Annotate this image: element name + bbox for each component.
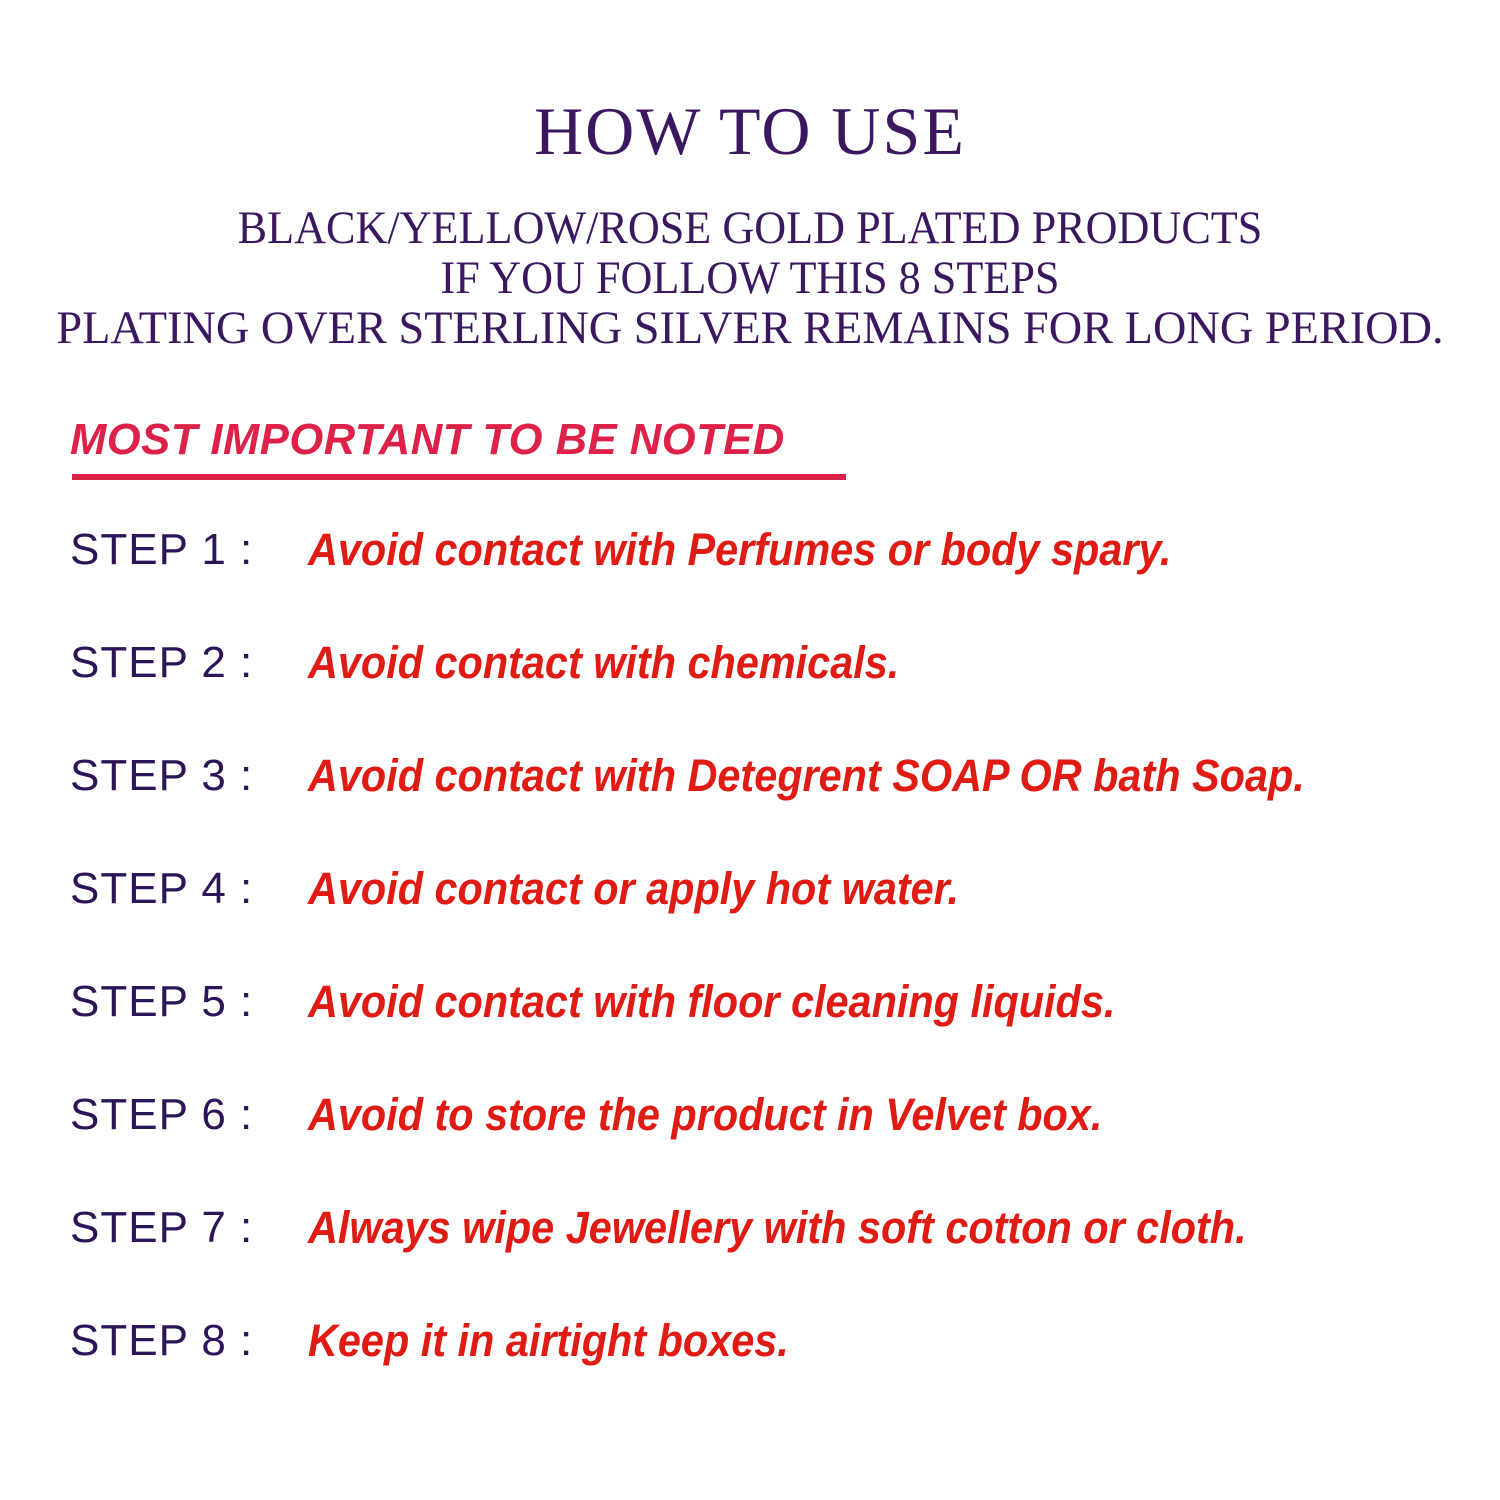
subtitle-block: BLACK/YELLOW/ROSE GOLD PLATED PRODUCTS I… bbox=[0, 203, 1500, 353]
step-label-3: STEP 3 : bbox=[70, 750, 253, 802]
title-block: HOW TO USE bbox=[0, 96, 1500, 166]
step-label-5: STEP 5 : bbox=[70, 976, 253, 1028]
step-description-2: Avoid contact with chemicals. bbox=[308, 637, 899, 689]
step-description-4: Avoid contact or apply hot water. bbox=[308, 863, 959, 915]
step-row: STEP 2 : Avoid contact with chemicals. bbox=[0, 637, 1500, 750]
step-label-7: STEP 7 : bbox=[70, 1202, 253, 1254]
step-row: STEP 7 : Always wipe Jewellery with soft… bbox=[0, 1202, 1500, 1315]
step-label-8: STEP 8 : bbox=[70, 1315, 253, 1367]
step-row: STEP 6 : Avoid to store the product in V… bbox=[0, 1089, 1500, 1202]
step-row: STEP 8 : Keep it in airtight boxes. bbox=[0, 1315, 1500, 1428]
subtitle-line-3: PLATING OVER STERLING SILVER REMAINS FOR… bbox=[11, 303, 1489, 353]
step-label-6: STEP 6 : bbox=[70, 1089, 253, 1141]
step-label-2: STEP 2 : bbox=[70, 637, 253, 689]
step-description-3: Avoid contact with Detegrent SOAP OR bat… bbox=[308, 750, 1305, 802]
page-title: HOW TO USE bbox=[0, 96, 1500, 166]
step-description-1: Avoid contact with Perfumes or body spar… bbox=[308, 524, 1171, 576]
notice-heading: MOST IMPORTANT TO BE NOTED bbox=[70, 416, 785, 464]
step-description-5: Avoid contact with floor cleaning liquid… bbox=[308, 976, 1115, 1028]
step-description-8: Keep it in airtight boxes. bbox=[308, 1315, 789, 1367]
instruction-card: HOW TO USE BLACK/YELLOW/ROSE GOLD PLATED… bbox=[0, 0, 1500, 1500]
notice-underline bbox=[72, 474, 846, 480]
step-label-1: STEP 1 : bbox=[70, 524, 253, 576]
step-description-7: Always wipe Jewellery with soft cotton o… bbox=[308, 1202, 1247, 1254]
subtitle-line-2: IF YOU FOLLOW THIS 8 STEPS bbox=[45, 253, 1455, 303]
subtitle-line-1: BLACK/YELLOW/ROSE GOLD PLATED PRODUCTS bbox=[45, 203, 1455, 253]
step-row: STEP 4 : Avoid contact or apply hot wate… bbox=[0, 863, 1500, 976]
step-row: STEP 1 : Avoid contact with Perfumes or … bbox=[0, 524, 1500, 637]
step-row: STEP 3 : Avoid contact with Detegrent SO… bbox=[0, 750, 1500, 863]
step-row: STEP 5 : Avoid contact with floor cleani… bbox=[0, 976, 1500, 1089]
step-description-6: Avoid to store the product in Velvet box… bbox=[308, 1089, 1102, 1141]
step-label-4: STEP 4 : bbox=[70, 863, 253, 915]
steps-list: STEP 1 : Avoid contact with Perfumes or … bbox=[0, 524, 1500, 1428]
notice-heading-block: MOST IMPORTANT TO BE NOTED bbox=[70, 416, 1070, 464]
